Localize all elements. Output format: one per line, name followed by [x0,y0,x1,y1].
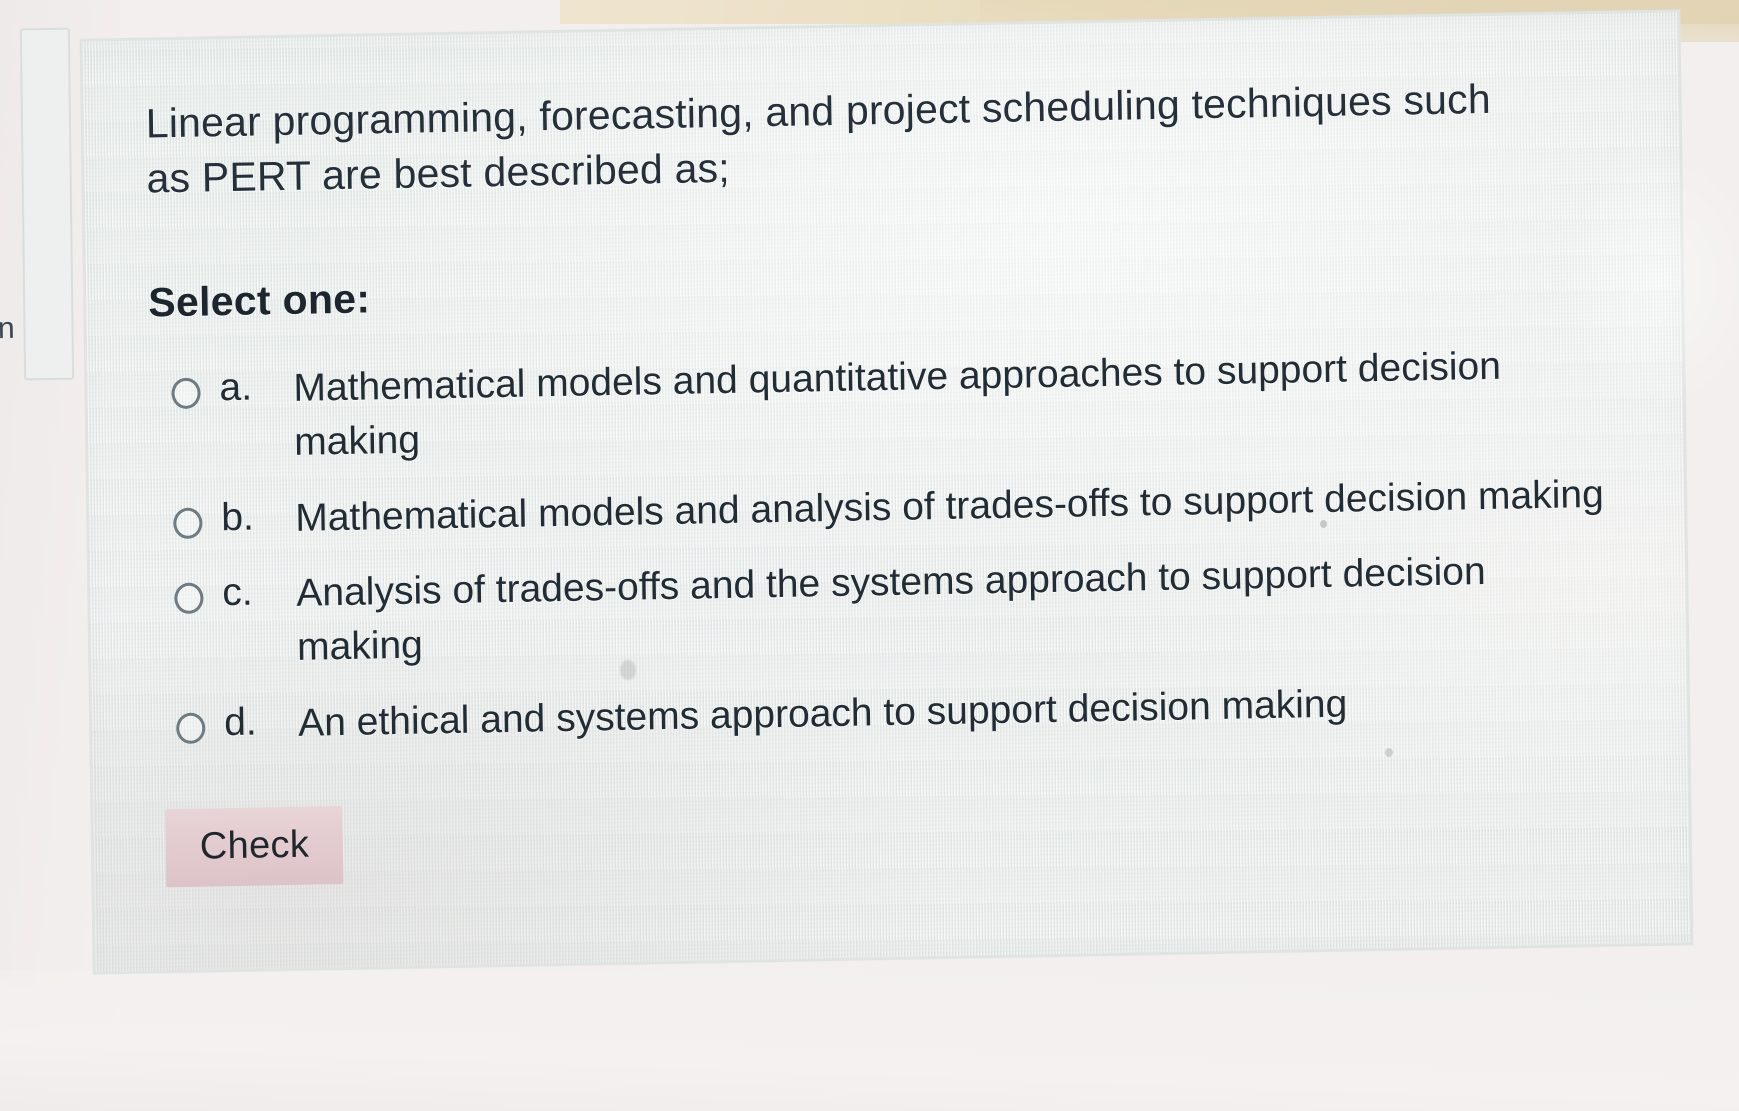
page-bottom-margin [0,971,1739,1111]
left-sidebar-partial-block[interactable] [20,28,74,381]
question-text: Linear programming, forecasting, and pro… [145,71,1526,205]
answer-options-list: a. Mathematical models and quantitative … [149,338,1617,754]
photo-artifact-speck [1385,748,1393,757]
option-text-b[interactable]: Mathematical models and analysis of trad… [295,468,1604,546]
answer-option-a[interactable]: a. Mathematical models and quantitative … [171,338,1613,472]
option-letter-d: d. [224,697,299,749]
option-letter-c: c. [222,567,297,619]
select-one-label: Select one: [148,253,1611,327]
answer-option-b[interactable]: b. Mathematical models and analysis of t… [173,467,1615,547]
radio-button-icon-a[interactable] [171,378,200,410]
photo-artifact-speck [1320,520,1327,528]
left-sidebar-partial-label: n [0,312,15,346]
radio-button-icon-d[interactable] [176,713,205,745]
option-letter-a: a. [219,362,294,414]
photographed-screen-scene: n Linear programming, forecasting, and p… [0,0,1739,1111]
radio-button-icon-c[interactable] [174,583,203,615]
check-button[interactable]: Check [165,806,343,887]
radio-button-icon-b[interactable] [173,507,202,539]
option-text-c[interactable]: Analysis of trades-offs and the systems … [296,543,1616,675]
option-text-d[interactable]: An ethical and systems approach to suppo… [298,678,1348,751]
photo-artifact-smudge [620,660,636,680]
answer-option-d[interactable]: d. An ethical and systems approach to su… [176,673,1618,753]
option-text-a[interactable]: Mathematical models and quantitative app… [293,338,1613,470]
answer-option-c[interactable]: c. Analysis of trades-offs and the syste… [174,543,1616,677]
quiz-question-card: Linear programming, forecasting, and pro… [80,9,1694,974]
option-letter-b: b. [221,491,296,543]
